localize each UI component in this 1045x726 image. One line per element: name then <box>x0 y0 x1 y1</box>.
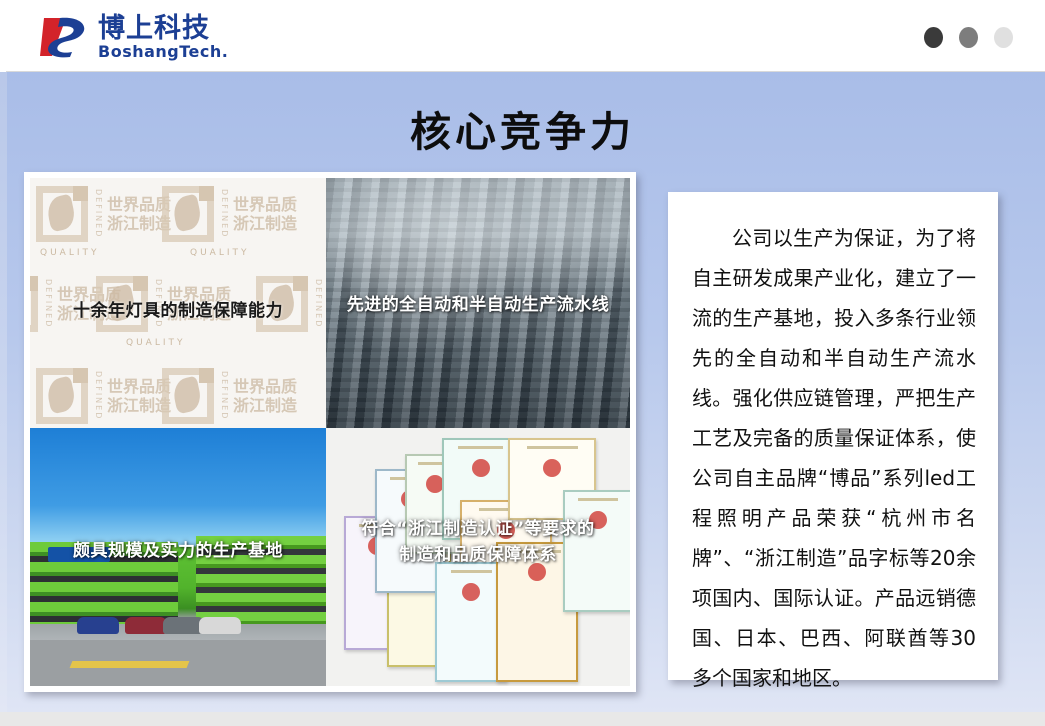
logo-chinese-name: 博上科技 <box>98 15 228 42</box>
caption-production-base: 颇具规模及实力的生产基地 <box>30 536 326 561</box>
dot-active[interactable] <box>924 27 943 48</box>
slide-stage: 核心竞争力 DEFINED 世界品质 浙江制造 QUALITY <box>0 72 1045 712</box>
factory-base-photo[interactable]: 颇具规模及实力的生产基地 <box>30 428 326 686</box>
watermark-quality-text: QUALITY <box>126 338 186 348</box>
pagination-dots[interactable] <box>924 27 1013 48</box>
watermark-defined-text: DEFINED <box>220 189 229 238</box>
logo-mark-icon <box>40 16 92 58</box>
quality-watermark-panel[interactable]: DEFINED 世界品质 浙江制造 QUALITY DEFINED 世界品质 浙… <box>30 178 326 428</box>
caption-certification-system-line1: 符合“浙江制造认证”等要求的 <box>326 516 630 542</box>
quality-badge-icon <box>162 368 214 424</box>
quality-badge-icon <box>36 368 88 424</box>
footer-strip <box>0 712 1045 726</box>
watermark-line1: 世界品质 <box>233 195 297 214</box>
presentation-slide: 博上科技 BoshangTech. 核心竞争力 DEFINED <box>0 0 1045 726</box>
logo-wordmark: 博上科技 BoshangTech. <box>98 15 228 60</box>
parked-car <box>77 617 119 634</box>
watermark-defined-text: DEFINED <box>94 189 103 238</box>
quality-badge-icon <box>162 186 214 242</box>
watermark-quality-text: QUALITY <box>40 248 100 258</box>
image-collage-card: DEFINED 世界品质 浙江制造 QUALITY DEFINED 世界品质 浙… <box>24 172 636 692</box>
certificates-photo[interactable]: 符合“浙江制造认证”等要求的 制造和品质保障体系 <box>326 428 630 686</box>
watermark-line1: 世界品质 <box>233 377 297 396</box>
parked-car <box>125 617 167 634</box>
watermark-line2: 浙江制造 <box>233 214 297 233</box>
logo-english-name: BoshangTech. <box>98 44 228 60</box>
parked-car <box>199 617 241 634</box>
company-logo[interactable]: 博上科技 BoshangTech. <box>40 14 228 60</box>
description-paragraph: 公司以生产为保证，为了将自主研发成果产业化，建立了一流的生产基地，投入多条行业领… <box>692 218 976 698</box>
dot-half[interactable] <box>959 27 978 48</box>
quality-badge-icon <box>36 186 88 242</box>
watermark-quality-text: QUALITY <box>190 248 250 258</box>
watermark-defined-text: DEFINED <box>220 371 229 420</box>
production-line-photo[interactable]: 先进的全自动和半自动生产流水线 <box>326 178 630 428</box>
page-title: 核心竞争力 <box>0 98 1045 158</box>
caption-certification-system-line2: 制造和品质保障体系 <box>326 542 630 568</box>
watermark-line2: 浙江制造 <box>233 396 297 415</box>
road-marking <box>141 661 190 668</box>
caption-production-line: 先进的全自动和半自动生产流水线 <box>326 290 630 315</box>
collage-grid: DEFINED 世界品质 浙江制造 QUALITY DEFINED 世界品质 浙… <box>30 178 630 686</box>
description-panel: 公司以生产为保证，为了将自主研发成果产业化，建立了一流的生产基地，投入多条行业领… <box>668 192 998 680</box>
watermark-defined-text: DEFINED <box>94 371 103 420</box>
caption-manufacturing-capability: 十余年灯具的制造保障能力 <box>30 296 326 321</box>
dot-inactive[interactable] <box>994 27 1013 48</box>
page-header: 博上科技 BoshangTech. <box>0 0 1045 72</box>
